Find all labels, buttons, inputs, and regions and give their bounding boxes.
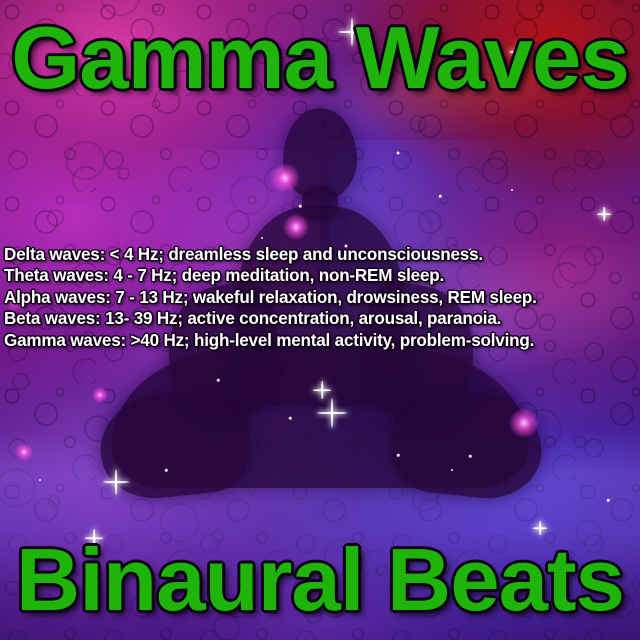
binaural-beats-poster: Gamma Waves Delta waves: < 4 Hz; dreamle… [0, 0, 640, 640]
list-item-gamma: Gamma waves: >40 Hz; high-level mental a… [4, 330, 636, 351]
silhouette-head [283, 108, 357, 200]
list-item-alpha: Alpha waves: 7 - 13 Hz; wakeful relaxati… [4, 287, 636, 308]
brainwave-frequency-list: Delta waves: < 4 Hz; dreamless sleep and… [4, 244, 640, 351]
list-item-delta: Delta waves: < 4 Hz; dreamless sleep and… [4, 244, 636, 265]
list-item-beta: Beta waves: 13- 39 Hz; active concentrat… [4, 308, 636, 329]
list-item-theta: Theta waves: 4 - 7 Hz; deep meditation, … [4, 265, 636, 286]
page-title-bottom: Binaural Beats [0, 536, 640, 624]
page-title-top: Gamma Waves [0, 14, 640, 102]
